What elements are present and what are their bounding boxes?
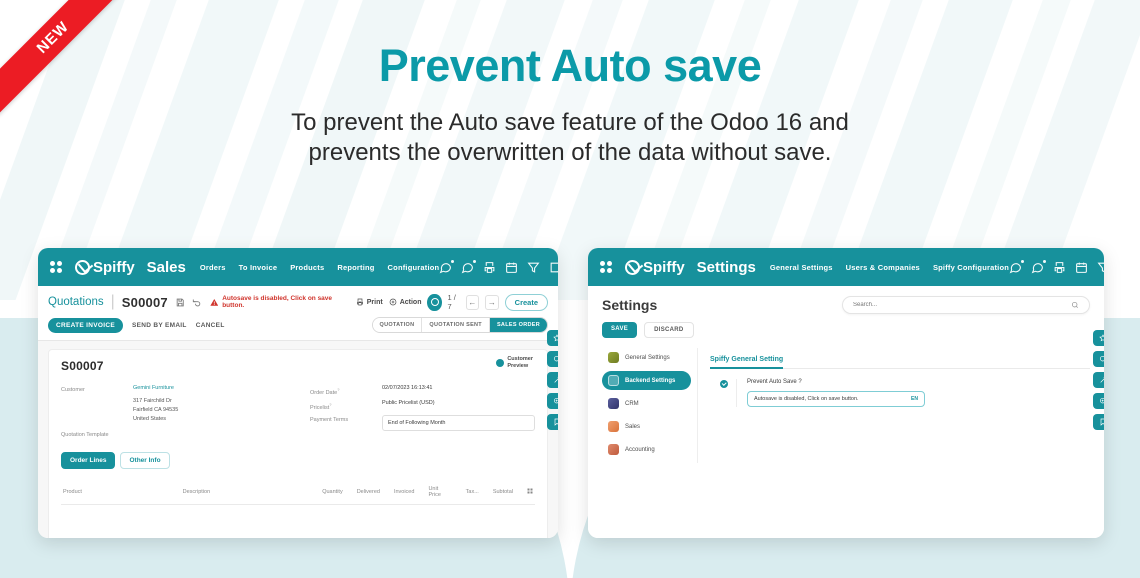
- record-sheet-wrapper: Customer Preview S00007 Customer Gemini …: [38, 341, 558, 538]
- search-input[interactable]: [853, 302, 1071, 308]
- create-button[interactable]: Create: [505, 294, 548, 311]
- menu-item-configuration[interactable]: Configuration: [388, 263, 440, 272]
- settings-page-title: Settings: [602, 297, 657, 313]
- sidebar-item-general-settings[interactable]: General Settings: [602, 348, 691, 367]
- brand-name: Spiffy: [643, 259, 685, 276]
- status-sales-order[interactable]: SALES ORDER: [489, 318, 547, 332]
- search-icon: [1071, 301, 1079, 309]
- search-icon[interactable]: [547, 351, 558, 367]
- prevent-auto-save-option: Prevent Auto Save ? Autosave is disabled…: [710, 379, 1090, 407]
- activities-icon[interactable]: [461, 261, 474, 274]
- apps-grid-icon[interactable]: [50, 261, 62, 273]
- status-quotation-sent[interactable]: QUOTATION SENT: [421, 318, 489, 332]
- sales-icon: [608, 421, 619, 432]
- breadcrumb-row: Quotations | S00007 Autosave is disabled…: [48, 293, 548, 311]
- column-tax: Tax...: [466, 489, 479, 495]
- discard-icon[interactable]: [192, 297, 202, 308]
- autosave-warning: Autosave is disabled, Click on save butt…: [210, 295, 349, 309]
- accounting-icon: [608, 444, 619, 455]
- sales-screenshot: Spiffy Sales Orders To Invoice Products …: [38, 248, 558, 538]
- language-badge[interactable]: EN: [911, 396, 918, 402]
- tab-order-lines[interactable]: Order Lines: [61, 452, 115, 469]
- sidebar-item-crm[interactable]: CRM: [602, 394, 691, 413]
- autosave-message-field[interactable]: Autosave is disabled, Click on save butt…: [747, 391, 925, 407]
- general-settings-icon: [608, 352, 619, 363]
- brand-logo[interactable]: Spiffy: [75, 259, 135, 276]
- search-icon[interactable]: [1093, 351, 1104, 367]
- settings-body: Settings SAVE DISCARD General Settings B…: [588, 286, 1104, 538]
- pager-next-button[interactable]: →: [485, 295, 499, 310]
- customer-preview-label: Customer Preview: [507, 356, 533, 370]
- field-value-order-date: 02/07/2023 16:13:41: [382, 385, 432, 396]
- left-topbar-icons: [439, 259, 558, 276]
- spiffy-logo-icon: [625, 260, 640, 275]
- field-quotation-template: Quotation Template: [61, 430, 298, 438]
- left-topbar: Spiffy Sales Orders To Invoice Products …: [38, 248, 558, 286]
- app-name: Sales: [147, 259, 186, 276]
- breadcrumb-current: S00007: [122, 295, 168, 310]
- menu-item-to-invoice[interactable]: To Invoice: [239, 263, 278, 272]
- pager-prev-button[interactable]: ←: [466, 295, 480, 310]
- brand-name: Spiffy: [93, 259, 135, 276]
- expand-icon[interactable]: [1093, 372, 1104, 388]
- calendar-icon[interactable]: [505, 261, 518, 274]
- crm-icon: [608, 398, 619, 409]
- column-quantity: Quantity: [322, 489, 342, 495]
- menu-item-products[interactable]: Products: [290, 263, 324, 272]
- autosave-message-value: Autosave is disabled, Click on save butt…: [754, 396, 859, 402]
- left-control-panel: Quotations | S00007 Autosave is disabled…: [38, 286, 558, 341]
- pager-count: 1 / 7: [448, 293, 460, 311]
- page-title: Prevent Auto save: [0, 40, 1140, 92]
- subtitle-line-2: prevents the overwritten of the data wit…: [309, 139, 832, 166]
- column-subtotal: Subtotal: [493, 489, 513, 495]
- record-fields: Customer Gemini Furniture 317 Fairchild …: [61, 385, 535, 442]
- messages-icon[interactable]: [1009, 261, 1022, 274]
- megaphone-icon[interactable]: [1097, 261, 1104, 274]
- subtitle-line-1: To prevent the Auto save feature of the …: [291, 109, 849, 136]
- page-subtitle: To prevent the Auto save feature of the …: [0, 108, 1140, 168]
- status-quotation[interactable]: QUOTATION: [373, 318, 422, 332]
- cancel-button[interactable]: CANCEL: [196, 322, 225, 329]
- field-pricelist: Pricelist? Public Pricelist (USD): [310, 400, 535, 411]
- field-label-payment-terms: Payment Terms: [310, 415, 382, 431]
- menu-item-users-companies[interactable]: Users & Companies: [846, 263, 920, 272]
- control-panel-actions: Print Action 1 / 7 ← → Create: [356, 293, 548, 311]
- action-button[interactable]: Action: [389, 298, 422, 306]
- column-invoiced: Invoiced: [394, 489, 415, 495]
- settings-screenshot: Spiffy Settings General Settings Users &…: [588, 248, 1104, 538]
- field-value-customer[interactable]: Gemini Furniture: [133, 385, 174, 393]
- brand-logo[interactable]: Spiffy: [625, 259, 685, 276]
- messages-badge: [1020, 259, 1025, 264]
- fields-left-column: Customer Gemini Furniture 317 Fairchild …: [61, 385, 298, 442]
- settings-main: General Settings Backend Settings CRM Sa…: [602, 348, 1090, 463]
- menu-item-spiffy-configuration[interactable]: Spiffy Configuration: [933, 263, 1009, 272]
- star-icon[interactable]: [1093, 330, 1104, 346]
- column-product: Product: [63, 489, 183, 495]
- menu-item-general-settings[interactable]: General Settings: [770, 263, 833, 272]
- field-customer-address: 317 Fairchild Dr Fairfield CA 94535 Unit…: [61, 397, 298, 424]
- send-by-email-button[interactable]: SEND BY EMAIL: [132, 322, 187, 329]
- sidebar-label-crm: CRM: [625, 401, 639, 407]
- activities-icon[interactable]: [1031, 261, 1044, 274]
- create-invoice-button[interactable]: CREATE INVOICE: [48, 318, 123, 333]
- action-button-label: Action: [400, 299, 422, 306]
- settings-search[interactable]: [842, 296, 1090, 314]
- settings-header: Settings: [602, 296, 1090, 314]
- breadcrumb-separator: |: [111, 293, 115, 311]
- order-date-label-text: Order Date: [310, 390, 337, 396]
- backend-settings-icon: [608, 375, 619, 386]
- messages-badge: [450, 259, 455, 264]
- menu-item-orders[interactable]: Orders: [200, 263, 226, 272]
- prevent-auto-save-body: Prevent Auto Save ? Autosave is disabled…: [736, 379, 1090, 407]
- record-status-circle[interactable]: [427, 294, 441, 311]
- field-customer: Customer Gemini Furniture: [61, 385, 298, 393]
- note-icon[interactable]: [549, 261, 558, 274]
- left-menu: Orders To Invoice Products Reporting Con…: [200, 263, 439, 272]
- star-icon[interactable]: [547, 330, 558, 346]
- right-menu: General Settings Users & Companies Spiff…: [770, 263, 1009, 272]
- right-topbar: Spiffy Settings General Settings Users &…: [588, 248, 1104, 286]
- fields-right-column: Order Date? 02/07/2023 16:13:41 Pricelis…: [298, 385, 535, 442]
- record-buttons-row: CREATE INVOICE SEND BY EMAIL CANCEL QUOT…: [48, 311, 548, 340]
- right-side-buttons: [1093, 330, 1104, 430]
- save-icon[interactable]: [175, 297, 185, 308]
- column-delivered: Delivered: [357, 489, 380, 495]
- customer-preview-button[interactable]: Customer Preview: [496, 356, 533, 370]
- calendar-icon[interactable]: [1075, 261, 1088, 274]
- preview-line-2: Preview: [507, 363, 528, 369]
- expand-icon[interactable]: [547, 372, 558, 388]
- bookmark-icon[interactable]: [547, 414, 558, 430]
- field-label-quotation-template: Quotation Template: [61, 430, 133, 438]
- bookmark-icon[interactable]: [1093, 414, 1104, 430]
- settings-actions: SAVE DISCARD: [602, 322, 1090, 338]
- right-topbar-icons: [1009, 259, 1104, 276]
- zoom-icon[interactable]: [547, 393, 558, 409]
- settings-content: Spiffy General Setting Prevent Auto Save…: [698, 348, 1090, 463]
- record-sheet: Customer Preview S00007 Customer Gemini …: [48, 349, 548, 538]
- preview-icon: [496, 359, 504, 367]
- column-options-icon[interactable]: [527, 488, 533, 496]
- messages-icon[interactable]: [439, 261, 452, 274]
- field-payment-terms: Payment Terms End of Following Month: [310, 415, 535, 431]
- left-side-buttons: [547, 330, 558, 430]
- table-header-right-group: Quantity Delivered Invoiced Unit Price T…: [322, 486, 533, 498]
- sidebar-label-general-settings: General Settings: [625, 355, 670, 361]
- print-button-label: Print: [367, 299, 383, 306]
- sidebar-item-backend-settings[interactable]: Backend Settings: [602, 371, 691, 390]
- field-label-customer: Customer: [61, 385, 133, 393]
- status-bar: QUOTATION QUOTATION SENT SALES ORDER: [372, 317, 549, 333]
- discard-button[interactable]: DISCARD: [644, 322, 693, 338]
- print-button[interactable]: Print: [356, 298, 383, 306]
- order-lines-table-header: Product Description Quantity Delivered I…: [61, 477, 535, 505]
- field-label-order-date: Order Date?: [310, 385, 382, 396]
- field-order-date: Order Date? 02/07/2023 16:13:41: [310, 385, 535, 396]
- record-tabs: Order Lines Other Info: [61, 452, 535, 469]
- settings-sidebar: General Settings Backend Settings CRM Sa…: [602, 348, 698, 463]
- spiffy-logo-icon: [75, 260, 90, 275]
- section-tab-spiffy-general-setting[interactable]: Spiffy General Setting: [710, 356, 783, 369]
- field-value-payment-terms[interactable]: End of Following Month: [382, 415, 535, 431]
- apps-grid-icon[interactable]: [600, 261, 612, 273]
- pricelist-label-text: Pricelist: [310, 405, 329, 411]
- field-value-address: 317 Fairchild Dr Fairfield CA 94535 Unit…: [133, 397, 178, 424]
- print-icon[interactable]: [1053, 261, 1066, 274]
- new-ribbon: NEW: [0, 0, 120, 120]
- field-label-address: [61, 397, 133, 424]
- new-ribbon-label: NEW: [0, 0, 120, 116]
- activities-badge: [472, 259, 477, 264]
- print-icon[interactable]: [483, 261, 496, 274]
- menu-item-reporting[interactable]: Reporting: [337, 263, 374, 272]
- activities-badge: [1042, 259, 1047, 264]
- sidebar-item-sales[interactable]: Sales: [602, 417, 691, 436]
- hero-section: Prevent Auto save To prevent the Auto sa…: [0, 40, 1140, 168]
- app-name: Settings: [697, 259, 756, 276]
- prevent-auto-save-checkbox[interactable]: [720, 380, 728, 388]
- preview-line-1: Customer: [507, 356, 533, 362]
- record-title: S00007: [61, 359, 535, 373]
- column-unit-price: Unit Price: [428, 486, 451, 498]
- tab-other-info[interactable]: Other Info: [120, 452, 169, 469]
- pricelist-sup: ?: [329, 402, 331, 407]
- sidebar-label-sales: Sales: [625, 424, 640, 430]
- save-button[interactable]: SAVE: [602, 322, 637, 338]
- autosave-warning-text: Autosave is disabled, Click on save butt…: [222, 295, 349, 309]
- sidebar-item-accounting[interactable]: Accounting: [602, 440, 691, 459]
- sidebar-label-accounting: Accounting: [625, 447, 655, 453]
- megaphone-icon[interactable]: [527, 261, 540, 274]
- sidebar-label-backend-settings: Backend Settings: [625, 378, 675, 384]
- order-date-sup: ?: [337, 387, 339, 392]
- breadcrumb-root[interactable]: Quotations: [48, 296, 104, 308]
- prevent-auto-save-label: Prevent Auto Save ?: [747, 379, 1090, 385]
- field-value-pricelist[interactable]: Public Pricelist (USD): [382, 400, 435, 411]
- zoom-icon[interactable]: [1093, 393, 1104, 409]
- field-label-pricelist: Pricelist?: [310, 400, 382, 411]
- column-description: Description: [183, 489, 323, 495]
